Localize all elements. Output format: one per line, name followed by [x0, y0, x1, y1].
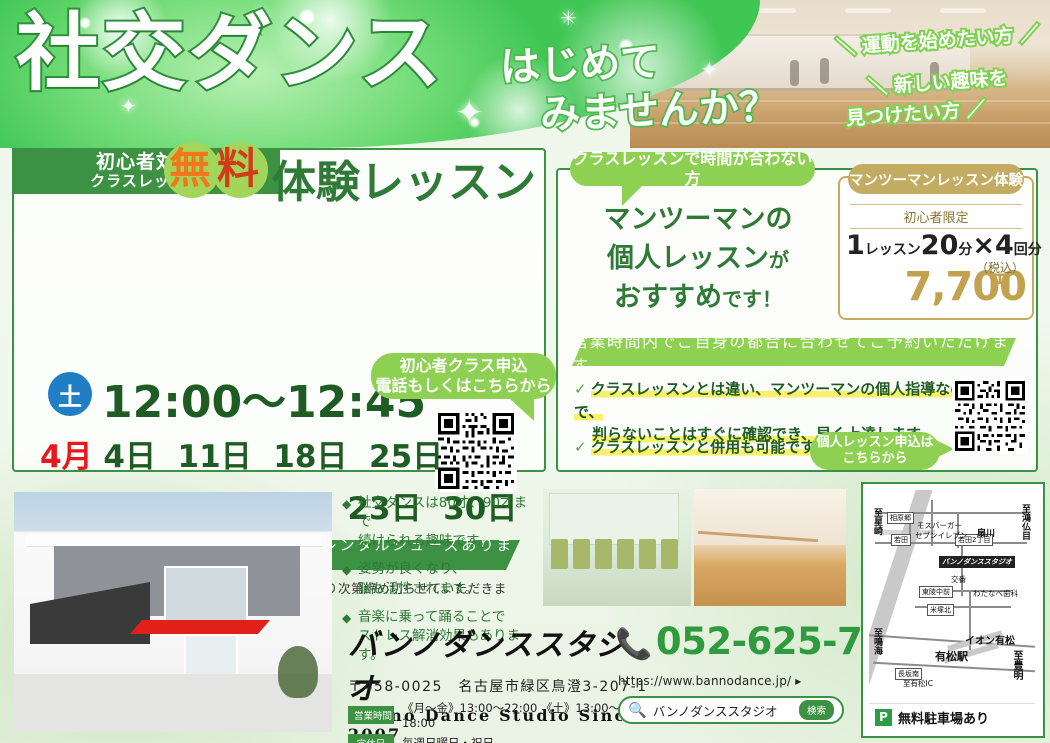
price-unit-1: 1	[846, 230, 865, 261]
benefit-item-2: ✓クラスレッスンと併用も可能です。	[574, 436, 834, 459]
map-text-seven: セブンイレブン	[915, 530, 968, 541]
qr-icon	[438, 413, 514, 489]
map-text-dental: わたなべ歯科	[973, 588, 1018, 599]
promo-recommend: おすすめ	[614, 282, 722, 313]
price-unit-sessions: 回分	[1014, 242, 1042, 258]
price-box: マンツーマンレッスン体験 初心者限定 1レッスン20分×4回分 7,700 （税…	[838, 176, 1034, 320]
list-item: ◆ 姿勢が良くなり、 脳も活性されます。	[342, 560, 538, 598]
trial-lesson-title: 体験レッスン	[272, 146, 536, 210]
map-label-toryo: 東陵中前	[919, 586, 953, 598]
price-box-header: マンツーマンレッスン体験	[848, 164, 1024, 194]
dance-floor-photo	[694, 489, 846, 606]
bullet-2-line1: 姿勢が良くなり、	[358, 560, 538, 579]
map-label-wakata: 若田	[891, 534, 911, 546]
schedule-conflict-text: クラスレッスンで時間が合わない方	[570, 149, 815, 188]
map-text-arimatsu-ic: 至有松IC	[903, 678, 933, 688]
personal-signup-bubble[interactable]: 個人レッスン申込は こちらから	[810, 432, 940, 470]
diamond-icon: ◆	[342, 562, 351, 579]
promo-personal: 個人レッスン	[607, 243, 769, 274]
map-dir-toyoake: 至豊明	[1009, 650, 1024, 680]
diamond-icon: ◆	[342, 496, 351, 513]
bullet-2-line2: 脳も活性されます。	[358, 580, 538, 599]
class-signup-bubble[interactable]: 初心者クラス申込 電話もしくはこちらから	[371, 353, 556, 399]
studio-address: 〒458-0025 名古屋市緑区鳥澄3-207-1	[348, 676, 648, 696]
price-unit-times-x: ×	[972, 230, 995, 261]
personal-signup-line1: 個人レッスン申込は	[816, 435, 933, 451]
page-title: 社交ダンス	[16, 14, 444, 94]
business-hours-block: 営業時間 《月〜金》13:00〜22:00 《土》13:00〜18:00 定休日…	[348, 700, 648, 743]
website-url[interactable]: https://www.bannodance.jp/ ▸	[618, 674, 802, 688]
class-signup-qr-code[interactable]	[435, 410, 517, 492]
schedule-row-april: 4月 4日 11日 18日 25日	[40, 431, 443, 476]
list-item: ◆ 社交ダンスは80才、90才まで 続けられる趣味です。	[342, 494, 538, 551]
promo-ga: が	[769, 248, 789, 272]
booking-hours-banner: 営業時間内でご自身の都合に合わせてご予約いただけます	[572, 338, 1016, 366]
day-april-4: 25日	[369, 439, 443, 475]
personal-signup-line2: こちらから	[842, 451, 907, 467]
closed-row: 定休日 毎週日曜日・祝日	[348, 734, 648, 743]
phone-icon: 📞	[615, 627, 652, 662]
benefit-2-text: クラスレッスンと併用も可能です。	[591, 438, 829, 456]
flyer-root: ✦ ✦ ✳ ✦ ✦ 社交ダンス はじめて みませんか？ ＼ 運動を始めたい方 ／…	[0, 0, 1050, 743]
class-lesson-panel: 初心者対象 クラスレッスン 無 料 体験レッスン 土 12:00〜12:45 初…	[12, 148, 546, 472]
map-dir-narumi: 至鳴海	[871, 628, 884, 655]
search-button[interactable]: 検索	[799, 700, 834, 720]
map-label-aiharago: 相原郷	[887, 512, 914, 524]
free-badge: 無 料	[164, 142, 284, 200]
header-banner: ✦ ✦ ✳ ✦ ✦ 社交ダンス はじめて みませんか？ ＼ 運動を始めたい方 ／…	[0, 0, 1050, 148]
day-april-2: 11日	[178, 439, 252, 475]
bullet-1-line1: 社交ダンスは80才、90才まで	[358, 494, 538, 532]
map-text-arimatsu-sta: 有松駅	[935, 648, 968, 664]
private-lesson-promo: マンツーマンの 個人レッスンが おすすめです！	[578, 200, 818, 317]
price-unit-min: 分	[958, 242, 972, 258]
price-unit-4: 4	[995, 230, 1014, 261]
closed-value: 毎週日曜日・祝日	[402, 735, 494, 743]
free-char-ryo: 料	[217, 148, 259, 190]
access-map: 至星崎 至鴻仏目 至鳴海 至豊明 相原郷 若田 若田2丁目 東陵中前 米塚北 長…	[861, 482, 1045, 738]
search-icon: 🔍	[628, 701, 647, 719]
class-signup-bubble-line1: 初心者クラス申込	[400, 356, 528, 376]
lobby-photo	[543, 489, 691, 606]
check-icon: ✓	[574, 438, 587, 456]
search-input[interactable]: バンノダンススタジオ	[653, 701, 793, 720]
bullet-1-line2: 続けられる趣味です。	[358, 532, 538, 551]
price-tax-note: （税込） 円	[976, 262, 1024, 297]
hours-badge: 営業時間	[348, 706, 394, 724]
parking-icon: P	[875, 709, 892, 726]
free-char-mu: 無	[169, 148, 211, 190]
saturday-badge: 土	[48, 372, 92, 416]
hours-value: 《月〜金》13:00〜22:00 《土》13:00〜18:00	[402, 700, 648, 730]
promo-desu: です！	[722, 287, 782, 311]
price-unit-20: 20	[921, 230, 959, 261]
header-subtitle-2: みませんか？	[539, 74, 780, 140]
schedule-conflict-bubble: クラスレッスンで時間が合わない方	[570, 152, 815, 186]
closed-badge: 定休日	[348, 734, 394, 743]
search-box[interactable]: 🔍 バンノダンススタジオ 検索	[618, 696, 844, 724]
promo-m2m: マンツーマンの	[604, 204, 793, 235]
qr-icon	[955, 381, 1025, 451]
benefit-1-line1: クラスレッスンとは違い、マンツーマンの個人指導なので、	[574, 380, 965, 421]
map-dir-kobutsume: 至鴻仏目	[1019, 504, 1032, 540]
price-unit-lesson: レッスン	[865, 242, 921, 258]
map-text-ogikawa: 扇川	[977, 526, 995, 539]
map-text-koban: 交番	[951, 574, 966, 585]
parking-text: 無料駐車場あり	[898, 708, 989, 727]
map-label-yonezuka: 米塚北	[927, 604, 954, 616]
day-april-1: 4日	[103, 439, 156, 475]
beginner-only-label: 初心者限定	[850, 204, 1022, 229]
studio-building-photo	[14, 492, 332, 732]
yen-label: 円	[976, 273, 1024, 297]
class-signup-bubble-line2: 電話もしくはこちらから	[375, 376, 551, 396]
day-april-3: 18日	[273, 439, 347, 475]
parking-info: P 無料駐車場あり	[869, 703, 1035, 730]
price-unit-line: 1レッスン20分×4回分	[846, 230, 1026, 261]
map-dir-hoshizaki: 至星崎	[871, 508, 884, 535]
month-label-april: 4月	[40, 439, 93, 475]
map-studio-pin: バンノダンススタジオ	[939, 556, 1015, 568]
hours-row: 営業時間 《月〜金》13:00〜22:00 《土》13:00〜18:00	[348, 700, 648, 730]
map-text-aeon: イオン有松	[965, 632, 1015, 647]
personal-lesson-qr-code[interactable]	[952, 378, 1028, 454]
map-drawing: 至星崎 至鴻仏目 至鳴海 至豊明 相原郷 若田 若田2丁目 東陵中前 米塚北 長…	[869, 490, 1035, 688]
check-icon: ✓	[574, 380, 587, 398]
